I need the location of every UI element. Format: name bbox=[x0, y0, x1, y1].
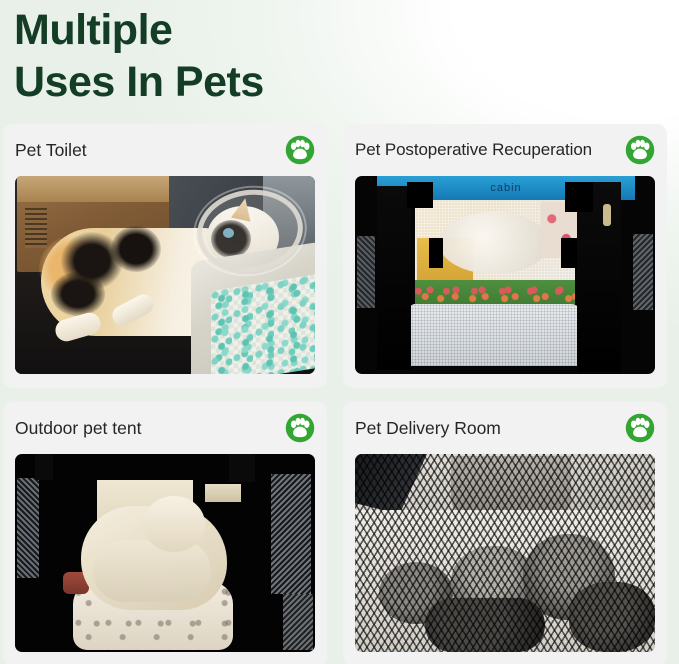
card-photo bbox=[15, 454, 315, 652]
card-header: Outdoor pet tent bbox=[15, 402, 315, 454]
page-title-line-1: Multiple bbox=[14, 4, 679, 56]
promo-page: Multiple Uses In Pets Pet Toilet bbox=[0, 0, 679, 664]
card-header: Pet Toilet bbox=[15, 124, 315, 176]
paw-icon bbox=[285, 413, 315, 443]
paw-icon bbox=[285, 135, 315, 165]
card-header: Pet Postoperative Recuperation bbox=[355, 124, 655, 176]
page-title-line-2: Uses In Pets bbox=[14, 56, 679, 108]
use-case-card-outdoor-pet-tent: Outdoor pet tent bbox=[3, 402, 327, 664]
card-header: Pet Delivery Room bbox=[355, 402, 655, 454]
card-photo: cabin bbox=[355, 176, 655, 374]
page-title: Multiple Uses In Pets bbox=[0, 0, 679, 108]
card-title: Pet Toilet bbox=[15, 140, 87, 160]
card-title: Pet Delivery Room bbox=[355, 418, 501, 438]
card-photo bbox=[15, 176, 315, 374]
use-case-card-pet-delivery-room: Pet Delivery Room bbox=[343, 402, 667, 664]
card-title: Outdoor pet tent bbox=[15, 418, 141, 438]
card-photo bbox=[355, 454, 655, 652]
use-case-card-pet-toilet: Pet Toilet bbox=[3, 124, 327, 388]
use-case-grid: Pet Toilet bbox=[0, 124, 679, 664]
use-case-card-pet-postoperative-recuperation: Pet Postoperative Recuperation cabin bbox=[343, 124, 667, 388]
card-title: Pet Postoperative Recuperation bbox=[355, 140, 592, 160]
paw-icon bbox=[625, 135, 655, 165]
paw-icon bbox=[625, 413, 655, 443]
